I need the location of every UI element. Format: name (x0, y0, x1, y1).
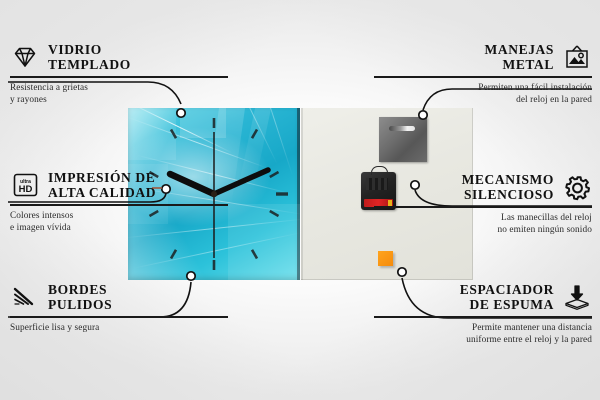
feature-subtitle: Superficie lisa y segura (10, 322, 228, 334)
metal-hanger-plate (379, 117, 427, 162)
feature-subtitle: Colores intensos e imagen vívida (10, 210, 228, 235)
feature-mecanismo-silencioso[interactable]: MECANISMO SILENCIOSO Las manecillas del … (374, 172, 592, 236)
feature-subtitle: Permite mantener una distancia uniforme … (374, 322, 592, 347)
ultra-hd-icon: ultra HD (10, 170, 40, 200)
picture-frame-hanger-icon (562, 42, 592, 72)
divider (374, 76, 592, 77)
diamond-icon (10, 42, 40, 72)
divider (374, 206, 592, 207)
divider (10, 204, 228, 205)
foam-spacer-arrow-icon (562, 282, 592, 312)
hanger-slot (389, 126, 415, 131)
feature-subtitle: Resistencia a grietas y rayones (10, 82, 228, 107)
feature-manejas-metal[interactable]: MANEJAS METAL Permiten una fácil instala… (374, 42, 592, 106)
divider (10, 76, 228, 77)
feature-bordes-pulidos[interactable]: BORDES PULIDOS Superficie lisa y segura (10, 282, 228, 334)
feature-subtitle: Las manecillas del reloj no emiten ningú… (374, 212, 592, 237)
polished-edges-icon (10, 282, 40, 312)
feature-title: IMPRESIÓN DE ALTA CALIDAD (48, 170, 156, 200)
divider (10, 316, 228, 317)
feature-title: BORDES PULIDOS (48, 282, 112, 312)
feature-title: VIDRIO TEMPLADO (48, 42, 131, 72)
feature-impresion-alta-calidad[interactable]: ultra HD IMPRESIÓN DE ALTA CALIDAD Color… (10, 170, 228, 234)
gear-icon (562, 172, 592, 202)
feature-title: MANEJAS METAL (485, 42, 554, 72)
svg-text:HD: HD (18, 184, 32, 195)
feature-subtitle: Permiten una fácil instalación del reloj… (374, 82, 592, 107)
feature-vidrio-templado[interactable]: VIDRIO TEMPLADO Resistencia a grietas y … (10, 42, 228, 106)
infographic-canvas: VIDRIO TEMPLADO Resistencia a grietas y … (0, 0, 600, 400)
feature-title: ESPACIADOR DE ESPUMA (460, 282, 554, 312)
feature-title: MECANISMO SILENCIOSO (462, 172, 554, 202)
foam-spacer-pad (378, 251, 393, 266)
divider (374, 316, 592, 317)
feature-espaciador-espuma[interactable]: ESPACIADOR DE ESPUMA Permite mantener un… (374, 282, 592, 346)
